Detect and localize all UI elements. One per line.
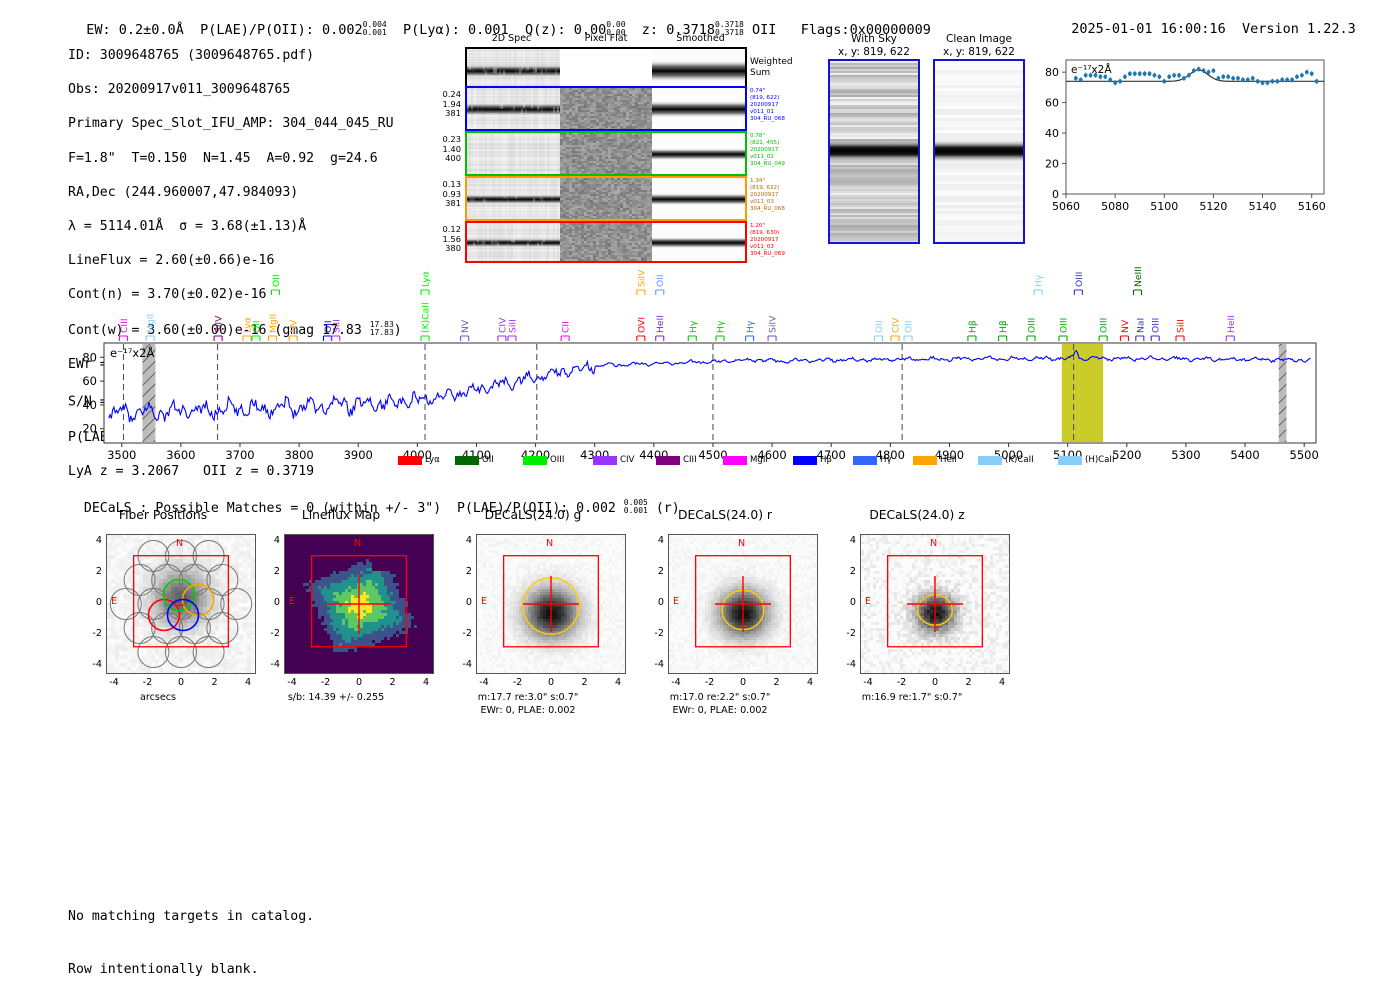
svg-text:NV: NV [289,319,300,333]
svg-text:CII: CII [561,321,572,333]
axis-label-x: arcsecs [60,692,256,705]
compass-east: E [673,596,679,607]
compass-north: N [176,538,183,549]
emission-line-marker: MgII [146,314,157,341]
svg-text:MgII: MgII [268,314,279,333]
legend-entry: CIV [593,455,634,465]
legend-entry: Hβ [793,455,832,465]
legend-entry: OII [455,455,494,465]
legend-swatch [523,456,547,465]
spec2d-cell-pixelflat [560,178,652,219]
legend-swatch [978,456,1002,465]
spectra-2d-panel: 2D SpecPixel FlatSmoothedWeightedSum0.24… [430,33,760,248]
spec2d-row-left-labels: 0.241.94381 [428,90,461,119]
emission-line-marker: (K)CaII [421,302,432,341]
svg-text:Hγ: Hγ [745,320,756,333]
svg-text:NV: NV [460,319,471,333]
axis-tick-x: 2 [767,677,787,688]
emission-line-marker: OIII [1027,318,1038,341]
emission-line-marker: OII [271,274,282,295]
svg-text:OII: OII [251,320,262,333]
svg-text:60: 60 [1045,97,1059,110]
axis-tick-x: -2 [508,677,528,688]
legend-swatch [455,456,479,465]
axis-tick-y: -2 [834,628,856,639]
decals-panel-row: Fiber PositionsNE-4-4-2-2002244arcsecsLi… [60,508,1060,723]
axis-tick-x: -2 [700,677,720,688]
axis-tick-y: -2 [258,628,280,639]
axis-tick-x: 4 [608,677,628,688]
info-seeing: F=1.8" T=0.150 N=1.45 A=0.92 g=24.6 [68,150,402,167]
legend-entry: (H)CaII [1058,455,1115,465]
axis-tick-y: 4 [258,535,280,546]
emission-line-marker: Hγ [1034,274,1045,295]
legend-swatch [853,456,877,465]
compass-north: N [354,538,361,549]
axis-tick-y: -2 [450,628,472,639]
svg-text:NaI: NaI [1135,318,1146,333]
emission-line-marker: OIII [1058,318,1069,341]
decals-panel-caption: EWr: 0, PLAE: 0.002 [614,705,826,718]
footer-line-1: No matching targets in catalog. [68,908,314,926]
svg-text:Hβ: Hβ [967,320,978,333]
thumbnail-coords: x, y: 819, 622 [828,46,920,59]
svg-text:5120: 5120 [1199,200,1227,213]
emission-line-marker: OVI [636,317,647,341]
compass-east: E [865,596,871,607]
svg-text:OIII: OIII [1074,272,1085,287]
emission-line-marker: CII [561,321,572,341]
svg-text:60: 60 [82,374,97,388]
legend-label: CIII [683,455,697,465]
legend-label: (H)CaII [1085,455,1115,465]
legend-label: HeII [940,455,957,465]
info-lambda-sigma: λ = 5114.01Å σ = 3.68(±1.13)Å [68,218,402,235]
svg-text:5160: 5160 [1298,200,1326,213]
axis-tick-x: -4 [282,677,302,688]
axis-tick-y: -4 [642,659,664,670]
decals-panel-caption: m:16.9 re:1.7" s:0.7" [806,692,1018,705]
emission-line-marker: HeII [1226,315,1237,341]
svg-text:3700: 3700 [225,448,254,462]
decals-panel-caption: EWr: 0, PLAE: 0.002 [422,705,634,718]
emission-line-marker: OII [904,320,915,341]
spec2d-row-right-info: 1.20"(819, 630)20200917v011_03304_RU_069 [750,223,820,258]
svg-text:SiIV: SiIV [214,315,225,333]
legend-swatch [793,456,817,465]
svg-text:Hγ: Hγ [1034,274,1045,287]
svg-text:5200: 5200 [1112,448,1141,462]
decals-panel-caption: m:17.0 re:2.2" s:0.7" [614,692,826,705]
spec2d-cell-smoothed [652,88,745,129]
full-spectrum-chart: 2040608035003600370038003900400041004200… [70,265,1320,465]
legend-label: (K)CaII [1005,455,1034,465]
axis-tick-x: 0 [349,677,369,688]
compass-north: N [738,538,745,549]
svg-text:Hβ: Hβ [998,320,1009,333]
svg-text:5500: 5500 [1290,448,1319,462]
svg-text:20: 20 [82,422,97,436]
thumbnail-title: Clean Imagex, y: 819, 622 [933,33,1025,59]
thumbnail-title-text: Clean Image [933,33,1025,46]
emission-line-marker: OII [874,320,885,341]
svg-text:CIV: CIV [891,317,902,333]
timestamp-value: 2025-01-01 16:00:16 [1071,21,1225,37]
spec2d-cell-2dspec [467,133,560,174]
emission-line-marker: SiII [507,319,518,341]
spec2d-column-header: Smoothed [660,33,740,44]
svg-text:3900: 3900 [344,448,373,462]
svg-text:80: 80 [82,350,97,364]
svg-text:3600: 3600 [166,448,195,462]
svg-text:SiII: SiII [507,319,518,333]
legend-swatch [723,456,747,465]
legend-entry: CIII [656,455,697,465]
svg-text:5140: 5140 [1249,200,1277,213]
svg-text:OII: OII [874,320,885,333]
zoomed-line-plot: 020406080506050805100512051405160e⁻¹⁷x2Å [1032,52,1332,224]
svg-text:(K)CaII: (K)CaII [421,302,432,333]
axis-tick-x: 4 [992,677,1012,688]
spec2d-cell-2dspec [467,223,560,261]
axis-tick-y: -4 [258,659,280,670]
legend-label: Hγ [880,455,892,465]
legend-label: Hβ [820,455,832,465]
svg-text:5080: 5080 [1101,200,1129,213]
legend-entry: Hγ [853,455,892,465]
legend-entry: OIII [523,455,564,465]
axis-tick-x: -2 [138,677,158,688]
axis-tick-y: 0 [834,597,856,608]
svg-text:CIII: CIII [119,318,130,333]
legend-swatch [656,456,680,465]
axis-tick-x: -4 [666,677,686,688]
axis-tick-x: -4 [104,677,124,688]
svg-text:40: 40 [82,398,97,412]
spec2d-row [465,176,747,221]
timestamp-version: 2025-01-01 16:00:16 Version 1.22.3 [1055,5,1356,37]
legend-label: CIV [620,455,634,465]
svg-text:3500: 3500 [107,448,136,462]
svg-text:HeII: HeII [1226,315,1237,333]
info-primary-spec: Primary Spec_Slot_IFU_AMP: 304_044_045_R… [68,115,402,132]
axis-tick-x: 0 [925,677,945,688]
spec2d-cell-2dspec [467,88,560,129]
spec2d-column-header: Pixel Flat [566,33,646,44]
axis-tick-x: -4 [474,677,494,688]
spec2d-row [465,221,747,263]
svg-text:SiIV: SiIV [768,315,779,333]
svg-text:OII: OII [904,320,915,333]
axis-tick-y: 0 [642,597,664,608]
axis-tick-y: -2 [80,628,102,639]
legend-swatch [593,456,617,465]
decals-panel-image [106,534,256,674]
decals-panel-caption: s/b: 14.39 +/- 0.255 [230,692,442,705]
decals-panel-image [476,534,626,674]
svg-text:OII: OII [655,274,666,287]
svg-text:HeII: HeII [655,315,666,333]
spec2d-row-right-info: 0.78"(821, 455)20200917v011_02304_RU_049 [750,133,820,168]
zoomed-line-chart: 020406080506050805100512051405160e⁻¹⁷x2Å [1032,52,1332,224]
spec2d-row [465,131,747,176]
footer-note: No matching targets in catalog. Row inte… [68,873,314,996]
emission-line-marker: OIII [1099,318,1110,341]
svg-text:5100: 5100 [1150,200,1178,213]
emission-line-marker: Hγ [688,320,699,341]
axis-tick-x: 4 [416,677,436,688]
emission-line-marker: NV [460,319,471,341]
image-thumbnails-panel: With Skyx, y: 819, 622Clean Imagex, y: 8… [828,33,1028,248]
emission-line-marker: CIV [891,317,902,341]
svg-text:e⁻¹⁷x2Å: e⁻¹⁷x2Å [110,345,154,360]
axis-tick-y: 2 [258,566,280,577]
emission-line-marker: NaI [1135,318,1146,341]
emission-line-marker: MgII [268,314,279,341]
svg-text:OIII: OIII [1027,318,1038,333]
spec2d-row-right-info: 0.74"(819, 622)20200917v011_01304_RU_068 [750,88,820,123]
svg-text:40: 40 [1045,127,1059,140]
emission-line-marker: Hγ [745,320,756,341]
axis-tick-x: -2 [316,677,336,688]
emission-line-marker: OIII [1151,318,1162,341]
legend-entry: HeII [913,455,957,465]
thumbnail-image [933,59,1025,244]
emission-line-marker: OII [655,274,666,295]
axis-tick-x: 2 [205,677,225,688]
emission-line-marker: CIII [119,318,130,341]
svg-text:MgII: MgII [146,314,157,333]
emission-line-marker: SiIV [768,315,779,341]
thumbnail-title: With Skyx, y: 819, 622 [828,33,920,59]
svg-text:Lyα: Lyα [421,271,432,287]
axis-tick-x: 4 [800,677,820,688]
axis-tick-x: 4 [238,677,258,688]
axis-tick-y: 0 [80,597,102,608]
spec2d-cell-2dspec [467,178,560,219]
svg-text:SiII: SiII [1176,319,1187,333]
legend-entry: MgII [723,455,768,465]
spec2d-cell-smoothed [652,178,745,219]
svg-text:80: 80 [1045,66,1059,79]
emission-line-marker: SiIV [214,315,225,341]
axis-tick-y: 2 [450,566,472,577]
spec2d-row-left-labels: 0.121.56380 [428,225,461,254]
info-obs: Obs: 20200917v011_3009648765 [68,81,402,98]
info-redshifts: LyA z = 3.2067 OII z = 0.3719 [68,463,402,480]
compass-north: N [546,538,553,549]
thumbnail-image [828,59,920,244]
svg-text:OIII: OIII [1058,318,1069,333]
emission-line-marker: SiII [331,319,342,341]
footer-line-2: Row intentionally blank. [68,961,314,979]
svg-text:Hγ: Hγ [688,320,699,333]
thumbnail-coords: x, y: 819, 622 [933,46,1025,59]
axis-tick-y: 4 [642,535,664,546]
spec2d-cell-pixelflat [560,223,652,261]
svg-text:OIII: OIII [1151,318,1162,333]
axis-tick-x: 2 [575,677,595,688]
axis-tick-y: 4 [834,535,856,546]
legend-label: Lyα [425,455,440,465]
svg-text:e⁻¹⁷x2Å: e⁻¹⁷x2Å [1071,63,1112,76]
svg-text:5060: 5060 [1052,200,1080,213]
axis-tick-x: -4 [858,677,878,688]
axis-tick-y: 2 [834,566,856,577]
decals-panel-caption: m:17.7 re:3.0" s:0.7" [422,692,634,705]
svg-text:OII: OII [271,274,282,287]
axis-tick-y: 0 [450,597,472,608]
axis-tick-x: 2 [383,677,403,688]
svg-text:5300: 5300 [1171,448,1200,462]
spec2d-column-header: 2D Spec [472,33,552,44]
axis-tick-y: -4 [450,659,472,670]
compass-east: E [111,596,117,607]
axis-tick-x: 0 [733,677,753,688]
emission-line-marker: Hβ [967,320,978,341]
emission-line-marker: NeIII [1133,266,1144,295]
axis-tick-y: -2 [642,628,664,639]
emission-line-marker: Lyα [421,271,432,295]
emission-line-marker: Hβ [998,320,1009,341]
thumbnail-title-text: With Sky [828,33,920,46]
svg-text:NeIII: NeIII [1133,266,1144,287]
axis-tick-y: 4 [450,535,472,546]
spec2d-weighted-sum-label: WeightedSum [750,57,793,78]
spec2d-row [465,86,747,131]
svg-text:SiIV: SiIV [636,269,647,287]
decals-panel-title: DECaLS(24.0) r [622,508,828,522]
emission-line-marker: SiIV [636,269,647,295]
axis-tick-x: 0 [541,677,561,688]
emission-line-marker: OIII [1074,272,1085,295]
decals-panel-title: DECaLS(24.0) g [430,508,636,522]
legend-swatch [913,456,937,465]
full-spectrum-plot: 2040608035003600370038003900400041004200… [70,265,1320,465]
svg-text:OVI: OVI [636,317,647,333]
legend-label: OIII [550,455,564,465]
decals-panel-title: Lineflux Map [238,508,444,522]
svg-text:3800: 3800 [284,448,313,462]
axis-tick-y: -4 [80,659,102,670]
compass-east: E [289,596,295,607]
axis-tick-y: 0 [258,597,280,608]
axis-tick-x: 2 [959,677,979,688]
legend-swatch [398,456,422,465]
spec2d-cell-smoothed [652,223,745,261]
decals-panel-title: DECaLS(24.0) z [814,508,1020,522]
axis-tick-y: 4 [80,535,102,546]
decals-panel-image [860,534,1010,674]
info-radec: RA,Dec (244.960007,47.984093) [68,184,402,201]
axis-tick-x: 0 [171,677,191,688]
compass-east: E [481,596,487,607]
legend-entry: Lyα [398,455,440,465]
svg-text:Hγ: Hγ [716,320,727,333]
axis-tick-x: -2 [892,677,912,688]
legend-label: MgII [750,455,768,465]
emission-line-marker: NV [289,319,300,341]
svg-text:SiII: SiII [331,319,342,333]
svg-text:OIII: OIII [1099,318,1110,333]
spec2d-row-left-labels: 0.130.93381 [428,180,461,209]
emission-line-legend: LyαOIIOIIICIVCIIIMgIIHβHγHeII(K)CaII(H)C… [398,455,1018,469]
emission-line-marker: HeII [655,315,666,341]
legend-label: OII [482,455,494,465]
emission-line-marker: Hγ [716,320,727,341]
legend-swatch [1058,456,1082,465]
decals-panel-image [284,534,434,674]
axis-tick-y: 2 [642,566,664,577]
info-id: ID: 3009648765 (3009648765.pdf) [68,47,402,64]
emission-line-marker: SiII [1176,319,1187,341]
emission-line-marker: NV [1120,319,1131,341]
spec2d-cell-pixelflat [560,88,652,129]
svg-text:5400: 5400 [1230,448,1259,462]
version-value: Version 1.22.3 [1242,21,1356,37]
decals-panel-image [668,534,818,674]
spec2d-cell-smoothed [652,133,745,174]
svg-text:20: 20 [1045,158,1059,171]
spec2d-cell-pixelflat [560,133,652,174]
axis-tick-y: -4 [834,659,856,670]
compass-north: N [930,538,937,549]
svg-text:NV: NV [1120,319,1131,333]
decals-panel-title: Fiber Positions [60,508,266,522]
axis-tick-y: 2 [80,566,102,577]
emission-line-marker: OII [251,320,262,341]
spec2d-row-right-info: 1.34"(819, 622)20200917v011_03304_RU_068 [750,178,820,213]
legend-entry: (K)CaII [978,455,1034,465]
spec2d-row-left-labels: 0.231.40400 [428,135,461,164]
